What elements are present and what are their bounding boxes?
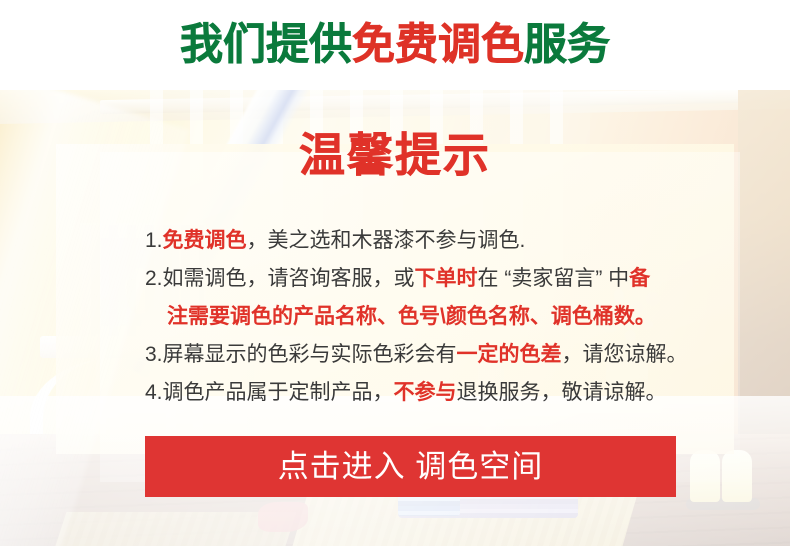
- header-title-part-2: 免费调色: [352, 21, 524, 69]
- cta-button-label: 点击进入 调色空间: [278, 451, 544, 482]
- background-photo: 温馨提示 1.免费调色，美之选和木器漆不参与调色.2.如需调色，请咨询客服，或下…: [0, 90, 790, 546]
- tip-text-emphasis: 不参与: [394, 381, 457, 404]
- tip-text: 在 “卖家留言” 中: [478, 267, 630, 290]
- tip-text: 调色产品属于定制产品，: [163, 381, 394, 404]
- tip-number: 1.: [145, 229, 163, 252]
- tip-text-emphasis: 一定的色差: [457, 343, 562, 366]
- tip-text: 屏幕显示的色彩与实际色彩会有: [163, 343, 457, 366]
- tip-line: 2.如需调色，请咨询客服，或下单时在 “卖家留言” 中备: [145, 260, 745, 298]
- header-banner: 我们提供免费调色服务: [0, 0, 790, 90]
- tip-text: ，美之选和木器漆不参与调色.: [247, 229, 526, 252]
- tip-text: ，请您谅解。: [562, 343, 688, 366]
- tip-line: 3.屏幕显示的色彩与实际色彩会有一定的色差，请您谅解。: [145, 336, 745, 374]
- panel-content: 温馨提示 1.免费调色，美之选和木器漆不参与调色.2.如需调色，请咨询客服，或下…: [0, 90, 790, 546]
- tip-line: 注需要调色的产品名称、色号\颜色名称、调色桶数。: [145, 298, 745, 336]
- header-title-part-3: 服务: [524, 21, 610, 69]
- enter-color-space-button[interactable]: 点击进入 调色空间: [145, 436, 676, 497]
- tips-list: 1.免费调色，美之选和木器漆不参与调色.2.如需调色，请咨询客服，或下单时在 “…: [145, 222, 745, 412]
- tip-number: 4.: [145, 381, 163, 404]
- tip-text: 退换服务，敬请谅解。: [457, 381, 667, 404]
- tip-number: 2.: [145, 267, 163, 290]
- tip-text-emphasis: 免费调色: [163, 229, 247, 252]
- tip-text-emphasis: 下单时: [415, 267, 478, 290]
- tip-text-emphasis: 注需要调色的产品名称、色号\颜色名称、调色桶数。: [167, 305, 656, 328]
- tip-text-emphasis: 备: [629, 267, 650, 290]
- tip-text: 如需调色，请咨询客服，或: [163, 267, 415, 290]
- header-title-part-1: 我们提供: [180, 21, 352, 69]
- promo-page: 我们提供免费调色服务: [0, 0, 790, 558]
- tip-line: 4.调色产品属于定制产品，不参与退换服务，敬请谅解。: [145, 374, 745, 412]
- header-title: 我们提供免费调色服务: [180, 24, 610, 67]
- tip-number: 3.: [145, 343, 163, 366]
- tip-line: 1.免费调色，美之选和木器漆不参与调色.: [145, 222, 745, 260]
- panel-title: 温馨提示: [0, 132, 790, 178]
